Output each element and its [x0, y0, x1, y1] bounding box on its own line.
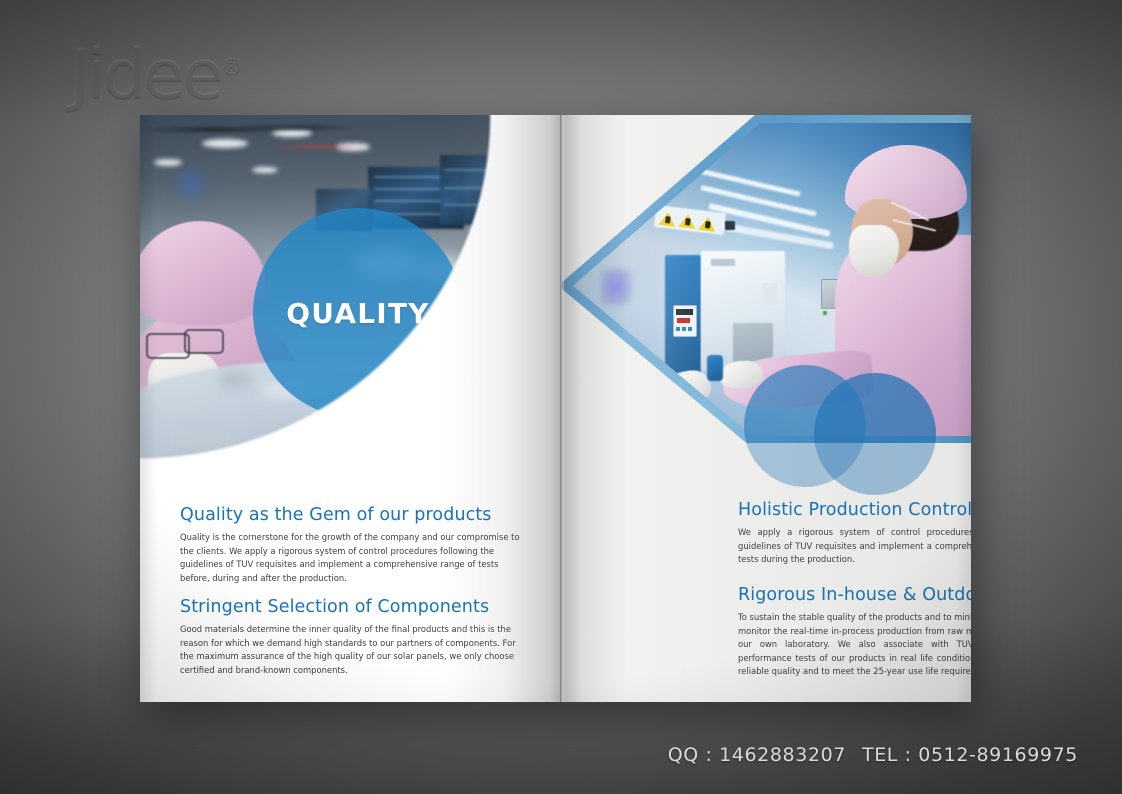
ceiling-rail [236, 125, 356, 130]
left-section-2: Stringent Selection of Components Good m… [180, 597, 525, 677]
chamber-handle [763, 283, 777, 305]
status-led-icon [823, 311, 827, 315]
contact-info-line: QQ : 1462883207TEL : 0512-89169975 [668, 744, 1078, 766]
left-section-1: Quality as the Gem of our products Quali… [180, 505, 525, 585]
qq-contact: QQ : 1462883207 [668, 744, 846, 766]
control-panel [673, 305, 697, 337]
cleanroom-worker-photo: QUALITY [140, 115, 500, 470]
ceiling-lamp-icon [154, 159, 182, 166]
tel-contact: TEL : 0512-89169975 [862, 744, 1078, 766]
quality-badge: QUALITY [253, 208, 463, 418]
table-shadow [218, 373, 252, 385]
section-body: We apply a rigorous system of control pr… [738, 526, 971, 567]
book-spine [560, 115, 564, 702]
logo-wordmark: Jidee [70, 36, 221, 115]
red-duct [270, 145, 366, 149]
sensor-box [725, 221, 735, 230]
section-title: Holistic Production Control Process [738, 500, 971, 520]
brochure-spread: QUALITY Quality as the Gem of our produc… [140, 115, 971, 702]
brochure-right-page: Holistic Production Control Process We a… [562, 115, 971, 702]
quality-badge-label: QUALITY [286, 297, 429, 330]
ceiling-lamp-icon [202, 139, 248, 148]
chamber-label [711, 259, 735, 266]
brochure-left-page: QUALITY Quality as the Gem of our produc… [140, 115, 562, 702]
decorative-circle-overlay [814, 373, 936, 495]
blue-handle [707, 355, 723, 381]
section-body: Good materials determine the inner quali… [180, 623, 525, 677]
section-title: Stringent Selection of Components [180, 597, 525, 617]
section-title: Rigorous In-house & Outdoor Testing [738, 585, 971, 605]
ceiling-lamp-icon [252, 167, 278, 173]
section-body: Quality is the cornerstone for the growt… [180, 531, 525, 585]
wall-monitor [440, 155, 500, 225]
equipment-glow [180, 171, 202, 197]
uv-indicator-glow [601, 269, 631, 305]
jidee-watermark-logo: Jidee® [70, 36, 243, 115]
section-title: Quality as the Gem of our products [180, 505, 525, 525]
worker-glasses-icon [184, 329, 224, 354]
right-section-1: Holistic Production Control Process We a… [738, 500, 971, 567]
right-section-2: Rigorous In-house & Outdoor Testing To s… [738, 585, 971, 679]
section-body: To sustain the stable quality of the pro… [738, 611, 971, 679]
registered-trademark-icon: ® [221, 55, 243, 80]
